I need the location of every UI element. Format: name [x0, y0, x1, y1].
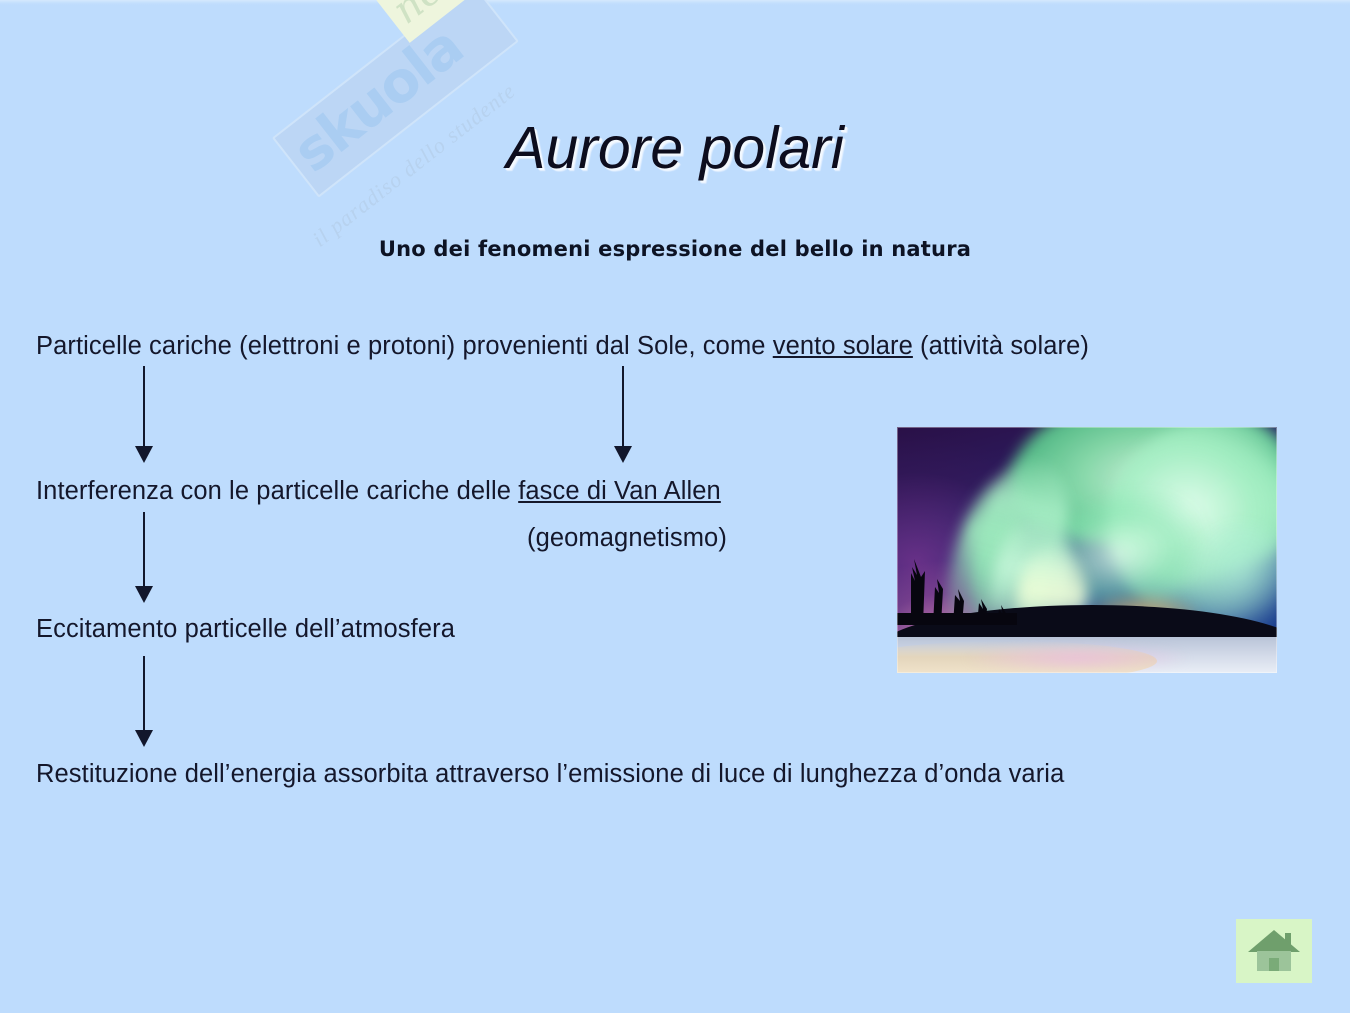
arrow-shaft: [143, 512, 145, 588]
link-fasce-di-van-allen[interactable]: fasce di Van Allen: [518, 477, 721, 505]
flow-step-1-text: Particelle cariche (elettroni e protoni)…: [36, 332, 1089, 361]
slide-canvas: skuola net il paradiso dello studente Au…: [0, 0, 1350, 1013]
aurora-photo: [897, 427, 1277, 673]
flow-step-2-note: (geomagnetismo): [527, 524, 727, 553]
flow-step-2-prefix: Interferenza con le particelle cariche d…: [36, 477, 518, 505]
flow-step-1-prefix: Particelle cariche (elettroni e protoni)…: [36, 332, 773, 360]
down-arrow-icon: [610, 366, 636, 464]
flow-step-2-text: Interferenza con le particelle cariche d…: [36, 477, 721, 506]
slide-title: Aurore polari: [0, 114, 1350, 182]
link-vento-solare[interactable]: vento solare: [773, 332, 913, 360]
photo-border: [897, 427, 1277, 673]
home-button[interactable]: [1236, 919, 1312, 983]
down-arrow-icon: [131, 366, 157, 464]
arrow-head: [135, 446, 153, 463]
down-arrow-icon: [131, 512, 157, 604]
slide-top-edge: [0, 0, 1350, 5]
flow-step-4-text: Restituzione dell’energia assorbita attr…: [36, 760, 1064, 789]
arrow-head: [135, 730, 153, 747]
slide-subtitle: Uno dei fenomeni espressione del bello i…: [0, 237, 1350, 261]
flow-step-1-suffix: (attività solare): [913, 332, 1089, 360]
flow-step-3-text: Eccitamento particelle dell’atmosfera: [36, 615, 455, 644]
watermark-suffix-text: net: [376, 0, 475, 43]
home-icon: [1236, 919, 1312, 983]
arrow-shaft: [143, 366, 145, 448]
arrow-head: [135, 586, 153, 603]
arrow-shaft: [622, 366, 624, 448]
down-arrow-icon: [131, 656, 157, 748]
arrow-head: [614, 446, 632, 463]
arrow-shaft: [143, 656, 145, 732]
